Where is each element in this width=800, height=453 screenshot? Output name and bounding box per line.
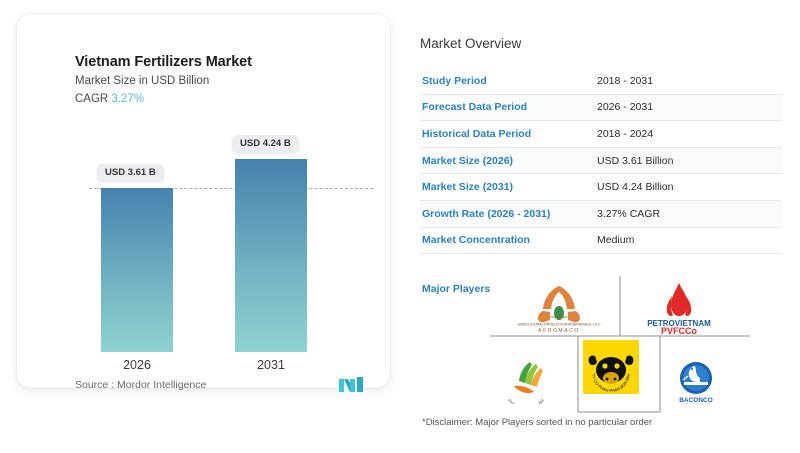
table-row: Growth Rate (2026 - 2031) 3.27% CAGR xyxy=(420,201,782,228)
row-value: USD 4.24 Billion xyxy=(597,181,673,193)
bar-2031[interactable] xyxy=(235,159,307,352)
afromaco-logo: FERTILIZER AGRICULTURAL PRODUCTS AND MAT… xyxy=(512,282,606,334)
source-text: Source : Mordor Intelligence xyxy=(75,379,206,391)
buffalo-fertilizer-logo: CONG TY CO PHAN PHAN BON BINH DIEN xyxy=(583,340,639,394)
table-row: Forecast Data Period 2026 - 2031 xyxy=(420,95,782,122)
row-label: Forecast Data Period xyxy=(420,101,597,113)
cagr-line: CAGR 3.27% xyxy=(75,93,144,105)
bar-label-2031: USD 4.24 B xyxy=(232,135,299,153)
major-players-logos: FERTILIZER AGRICULTURAL PRODUCTS AND MAT… xyxy=(490,276,750,416)
row-value: 2026 - 2031 xyxy=(597,101,653,113)
table-row: Market Size (2026) USD 3.61 Billion xyxy=(420,148,782,175)
row-label: Study Period xyxy=(420,75,597,87)
row-value: USD 3.61 Billion xyxy=(597,155,673,167)
row-label: Market Concentration xyxy=(420,234,597,246)
row-value: 3.27% CAGR xyxy=(597,208,660,220)
baconco-logo: BACONCO xyxy=(670,358,722,406)
svg-text:PHAN BON MIEN NAM: PHAN BON MIEN NAM xyxy=(507,398,545,404)
market-overview-panel: Market Overview Study Period 2018 - 2031… xyxy=(420,36,782,254)
petrovietnam-pvfcco-logo: PETROVIETNAM PVFCCo xyxy=(642,280,716,336)
row-value: 2018 - 2024 xyxy=(597,128,653,140)
bar-chart-plot: USD 3.61 B USD 4.24 B 2026 2031 xyxy=(75,132,365,352)
table-row: Market Size (2031) USD 4.24 Billion xyxy=(420,174,782,201)
svg-text:AFROMACO: AFROMACO xyxy=(538,328,580,334)
table-row: Market Concentration Medium xyxy=(420,228,782,255)
row-value: Medium xyxy=(597,234,634,246)
bar-2026[interactable] xyxy=(101,188,173,352)
svg-text:AGRICULTURAL PRODUCTS AND MATE: AGRICULTURAL PRODUCTS AND MATERIALS J.S.… xyxy=(518,323,601,327)
row-label: Market Size (2026) xyxy=(420,155,597,167)
row-label: Growth Rate (2026 - 2031) xyxy=(420,208,597,220)
svg-text:FERTILIZER: FERTILIZER xyxy=(550,315,568,319)
chart-title: Vietnam Fertilizers Market xyxy=(75,54,252,70)
row-value: 2018 - 2031 xyxy=(597,75,653,87)
cagr-value: 3.27% xyxy=(111,93,144,105)
chart-card: Vietnam Fertilizers Market Market Size i… xyxy=(17,14,390,388)
x-axis-label-2031: 2031 xyxy=(235,358,307,372)
x-axis-label-2026: 2026 xyxy=(101,358,173,372)
phan-bon-mien-nam-logo: PHAN BON MIEN NAM xyxy=(494,356,558,404)
table-row: Study Period 2018 - 2031 xyxy=(420,68,782,95)
major-players-label: Major Players xyxy=(422,283,490,295)
row-label: Market Size (2031) xyxy=(420,181,597,193)
disclaimer-text: *Disclaimer: Major Players sorted in no … xyxy=(422,417,652,428)
mordor-intelligence-logo xyxy=(339,377,365,392)
overview-title: Market Overview xyxy=(420,36,782,51)
row-label: Historical Data Period xyxy=(420,128,597,140)
cagr-label: CAGR xyxy=(75,93,108,105)
chart-subtitle: Market Size in USD Billion xyxy=(75,75,209,87)
source-row: Source : Mordor Intelligence xyxy=(75,377,365,392)
table-row: Historical Data Period 2018 - 2024 xyxy=(420,121,782,148)
svg-text:BACONCO: BACONCO xyxy=(679,397,713,404)
svg-text:PVFCCo: PVFCCo xyxy=(661,326,698,336)
bar-label-2026: USD 3.61 B xyxy=(97,164,164,182)
